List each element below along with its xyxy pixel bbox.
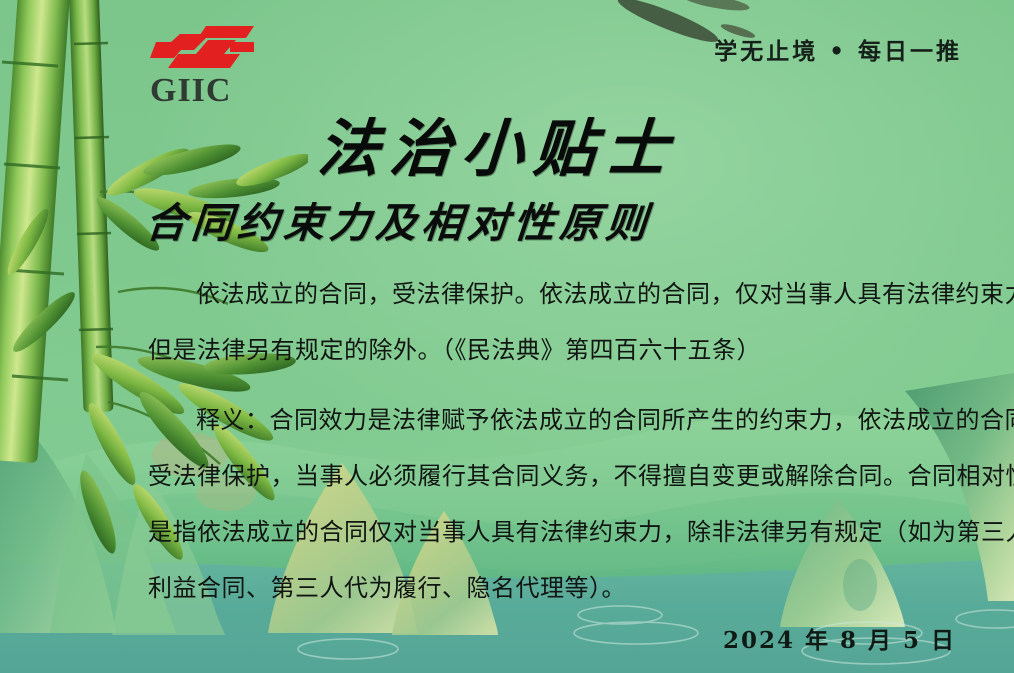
- date-stamp: 2024 年 8 月 5 日: [723, 621, 956, 655]
- paragraph-line: 依法成立的合同，受法律保护。依法成立的合同，仅对当事人具有法律约束力，: [148, 266, 948, 322]
- paragraph-line: 释义：合同效力是法律赋予依法成立的合同所产生的约束力，依法成立的合同: [148, 392, 948, 448]
- paragraph-line: 受法律保护，当事人必须履行其合同义务，不得擅自变更或解除合同。合同相对性: [148, 448, 948, 504]
- brand-logo: GIIC: [150, 24, 270, 116]
- paragraph-line: 是指依法成立的合同仅对当事人具有法律约束力，除非法律另有规定（如为第三人: [148, 504, 948, 560]
- tagline: 学无止境 • 每日一推: [714, 32, 962, 66]
- page-title: 法治小贴士: [315, 98, 681, 188]
- paragraph-2: 释义：合同效力是法律赋予依法成立的合同所产生的约束力，依法成立的合同 受法律保护…: [148, 392, 948, 616]
- body-content: 依法成立的合同，受法律保护。依法成立的合同，仅对当事人具有法律约束力， 但是法律…: [148, 266, 948, 616]
- giic-logo-icon: [150, 24, 262, 72]
- poster-canvas: GIIC 学无止境 • 每日一推 法治小贴士 合同约束力及相对性原则 依法成立的…: [0, 0, 1014, 673]
- paragraph-line: 利益合同、第三人代为履行、隐名代理等）。: [148, 560, 948, 616]
- brand-logo-text: GIIC: [150, 74, 270, 108]
- paragraph-line: 但是法律另有规定的除外。（《民法典》第四百六十五条）: [148, 322, 948, 378]
- paragraph-1: 依法成立的合同，受法律保护。依法成立的合同，仅对当事人具有法律约束力， 但是法律…: [148, 266, 948, 378]
- page-subtitle: 合同约束力及相对性原则: [143, 189, 654, 249]
